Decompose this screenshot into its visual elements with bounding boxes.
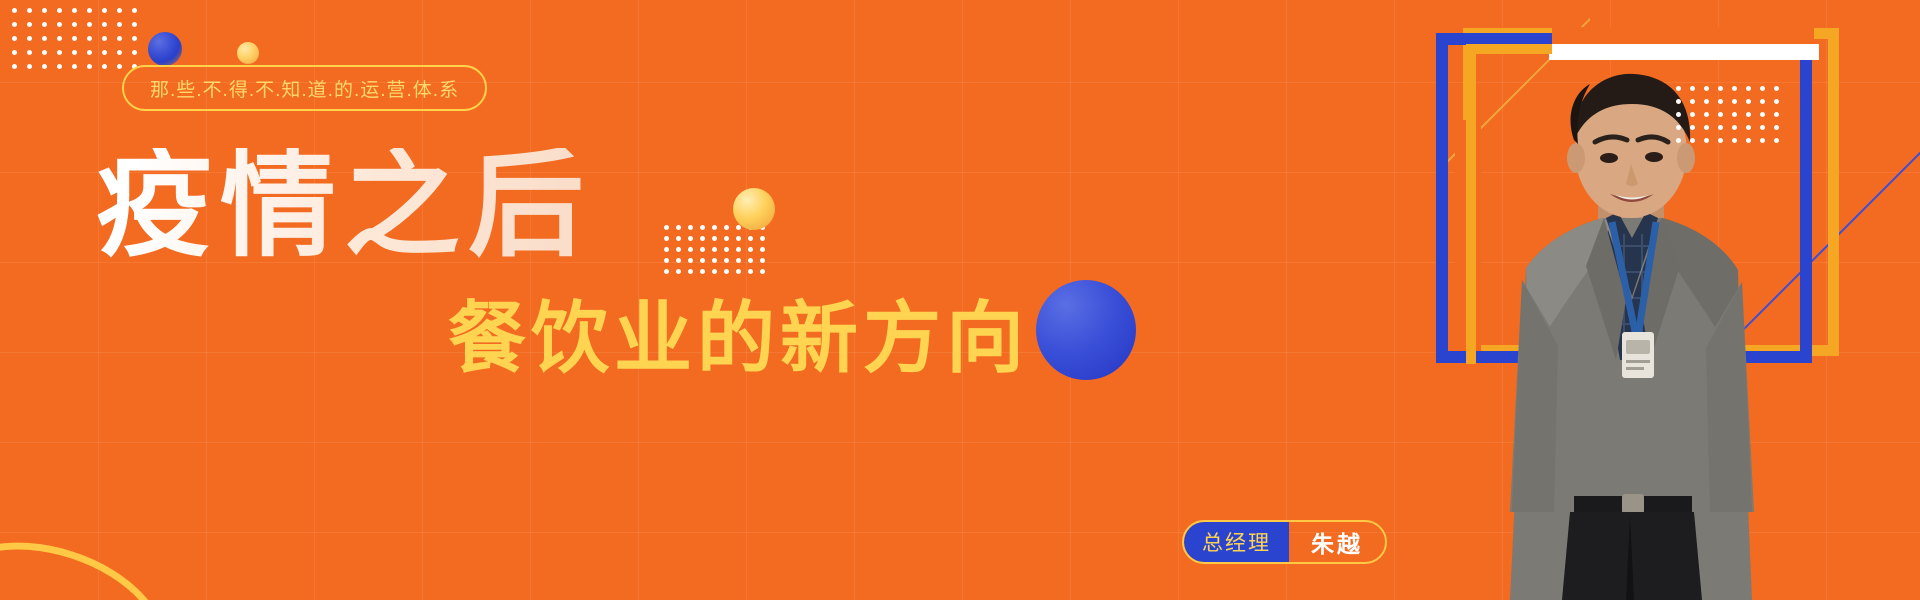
circle-amber-medium [733,188,775,230]
subtitle-pill-label: 那.些.不.得.不.知.道.的.运.营.体.系 [150,75,459,102]
subtitle-pill: 那.些.不.得.不.知.道.的.运.营.体.系 [122,65,487,111]
speaker-role: 总经理 [1184,522,1289,562]
headline-line-2: 餐饮业的新方向 [448,300,1029,378]
speaker-portrait [1466,60,1796,600]
photo-frame-amber-stub [1466,44,1552,54]
speaker-badge: 总经理 朱越 [1182,520,1387,564]
circle-amber-small [237,42,259,64]
circle-blue-large [1036,280,1136,380]
circle-blue-small [148,32,182,66]
arc-bottom-left [0,515,187,600]
banner-canvas: 那.些.不.得.不.知.道.的.运.营.体.系 疫情之后 餐饮业的新方向 总经理… [0,0,1920,600]
speaker-portrait-illustration [1466,60,1796,600]
speaker-name: 朱越 [1289,522,1385,562]
photo-frame-white-bar [1549,44,1819,60]
headline-line-1: 疫情之后 [96,148,592,264]
